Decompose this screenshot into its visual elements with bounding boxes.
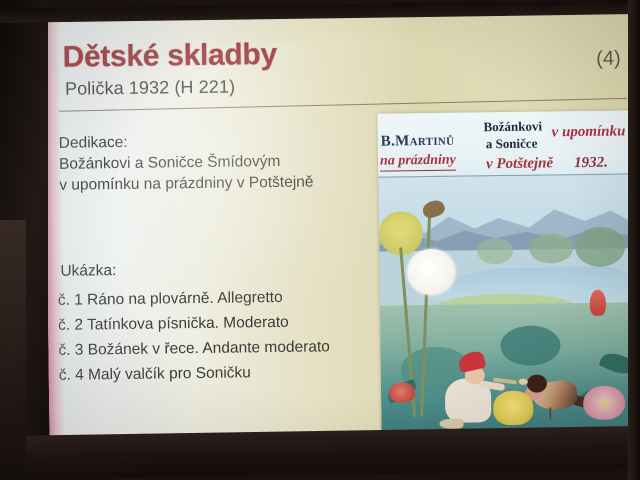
examples-block: Ukázka: č. 1 Ráno na plovárně. Allegrett… (57, 255, 389, 388)
illustration-year: 1932. (574, 155, 608, 172)
title-divider (59, 98, 627, 112)
bird-beak (519, 379, 528, 385)
scene-tree-cluster (575, 226, 626, 267)
examples-heading: Ukázka: (57, 255, 387, 284)
score-cover-illustration: B.Martinů Božánkovi a Soničce v upomínku… (377, 110, 635, 430)
gnome-shoe (439, 419, 463, 429)
dedication-line-2: v upomínku na prázdniny v Potštejně (59, 171, 379, 196)
scene-tree-cluster (529, 233, 573, 264)
bird-leg (549, 407, 551, 419)
illustration-dedicatee-line-1: Božánkovi (483, 118, 542, 135)
page-title: Dětské skladby (62, 38, 277, 75)
presentation-slide: Dětské skladby (4) Polička 1932 (H 221) … (44, 3, 638, 453)
scene-tree-cluster (477, 238, 513, 264)
page-subtitle: Polička 1932 (H 221) (65, 77, 235, 100)
room-wall-shadow (0, 220, 26, 480)
room-wall-right (628, 0, 640, 480)
pink-flower-center (600, 400, 609, 408)
illustration-composer-name: B.Martinů (381, 133, 455, 151)
illustration-phrase-prazdniny: na prázdniny (380, 153, 456, 172)
list-item: č. 4 Malý valčík pro Soničku (59, 359, 389, 388)
slide-content: Dětské skladby (4) Polička 1932 (H 221) … (44, 3, 638, 453)
illustration-phrase-upominku: v upomínku (552, 123, 626, 141)
room-wall-bottom (0, 426, 640, 480)
illustration-landscape-scene (378, 174, 635, 430)
projection-photo: Dětské skladby (4) Polička 1932 (H 221) … (0, 0, 640, 480)
dedication-block: Dedikace: Božánkovi a Soničce Šmídovým v… (59, 129, 380, 196)
illustration-place: v Potštejně (486, 155, 553, 173)
yellow-flower (493, 391, 533, 426)
red-flower (389, 382, 415, 402)
illustration-dedicatee-line-2: a Soničce (486, 136, 538, 153)
page-number: (4) (596, 47, 621, 70)
red-flower (590, 290, 606, 316)
illustration-dedication-band: B.Martinů Božánkovi a Soničce v upomínku… (377, 110, 632, 181)
